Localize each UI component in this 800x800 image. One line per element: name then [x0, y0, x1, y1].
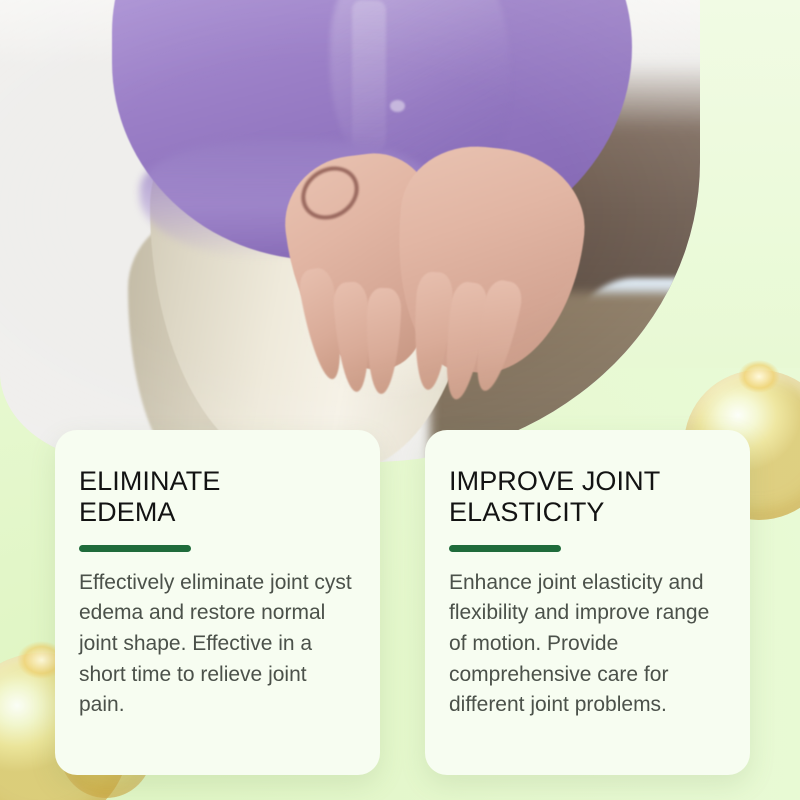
feature-card-eliminate-edema: ELIMINATE EDEMA Effectively eliminate jo… — [55, 430, 380, 775]
hero-photo-image — [0, 0, 700, 462]
feature-card-accent-rule — [79, 545, 191, 552]
feature-card-body: Enhance joint elasticity and flexibility… — [449, 568, 722, 721]
photo-soft-focus-overlay — [0, 0, 700, 462]
feature-cards: ELIMINATE EDEMA Effectively eliminate jo… — [55, 430, 755, 775]
feature-card-accent-rule — [449, 545, 561, 552]
feature-card-body: Effectively eliminate joint cyst edema a… — [79, 568, 352, 721]
feature-card-improve-joint-elasticity: IMPROVE JOINT ELASTICITY Enhance joint e… — [425, 430, 750, 775]
hero-photo — [0, 0, 700, 462]
feature-card-title: ELIMINATE EDEMA — [79, 466, 352, 529]
product-feature-poster: ELIMINATE EDEMA Effectively eliminate jo… — [0, 0, 800, 800]
feature-card-title: IMPROVE JOINT ELASTICITY — [449, 466, 722, 529]
